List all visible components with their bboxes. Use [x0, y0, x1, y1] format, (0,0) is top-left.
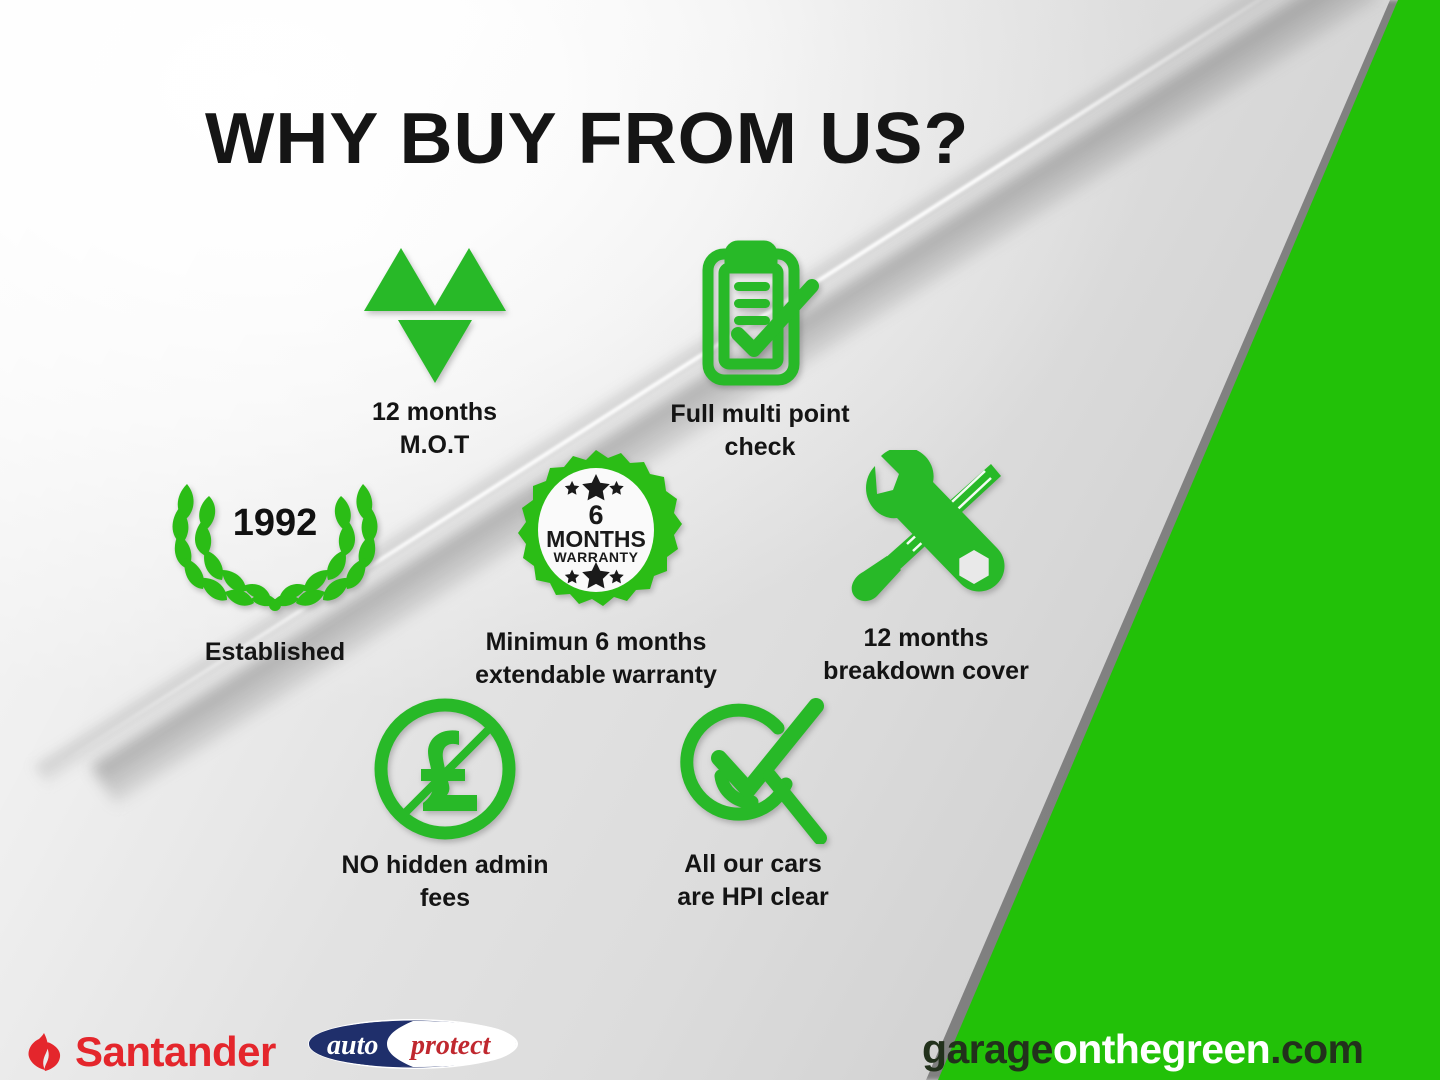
warranty-word: WARRANTY — [554, 549, 639, 565]
mot-triangles-icon — [312, 243, 557, 388]
feature-caption: All our cars are HPI clear — [638, 848, 868, 914]
feature-caption: Established — [160, 636, 390, 669]
autoprotect-logo: auto protect — [307, 1018, 519, 1070]
autoprotect-word-auto: auto — [327, 1030, 378, 1061]
page-title: WHY BUY FROM US? — [205, 98, 969, 180]
no-pound-fees-icon — [330, 695, 560, 843]
feature-no-admin-fees: NO hidden admin fees — [330, 695, 560, 915]
clipboard-check-icon — [640, 238, 880, 390]
poster-canvas: WHY BUY FROM US? 12 months M.O.T — [0, 0, 1440, 1080]
santander-wordmark: Santander — [75, 1028, 276, 1076]
established-year: 1992 — [160, 502, 390, 545]
website-part-2: onthegreen — [1053, 1026, 1270, 1072]
feature-breakdown-cover: 12 months breakdown cover — [806, 450, 1046, 688]
website-part-1: garage — [922, 1026, 1053, 1072]
wrench-screwdriver-icon — [806, 450, 1046, 618]
feature-multipoint-check: Full multi point check — [640, 238, 880, 464]
circle-check-hpi-icon — [638, 692, 868, 844]
feature-caption: Minimun 6 months extendable warranty — [466, 626, 726, 692]
feature-caption: 12 months breakdown cover — [806, 622, 1046, 688]
feature-mot: 12 months M.O.T — [312, 243, 557, 462]
website-part-3: .com — [1270, 1026, 1363, 1072]
feature-caption: NO hidden admin fees — [330, 849, 560, 915]
autoprotect-word-protect: protect — [409, 1030, 492, 1061]
feature-hpi-clear: All our cars are HPI clear — [638, 692, 868, 914]
feature-established: 1992 Established — [160, 462, 390, 669]
warranty-badge-icon: 6 MONTHS WARRANTY — [466, 448, 726, 620]
website-wordmark[interactable]: garageonthegreen.com — [922, 1026, 1363, 1073]
feature-warranty: 6 MONTHS WARRANTY Minimun 6 months exten… — [466, 448, 726, 692]
santander-flame-icon — [22, 1030, 66, 1074]
santander-logo: Santander — [22, 1028, 276, 1076]
